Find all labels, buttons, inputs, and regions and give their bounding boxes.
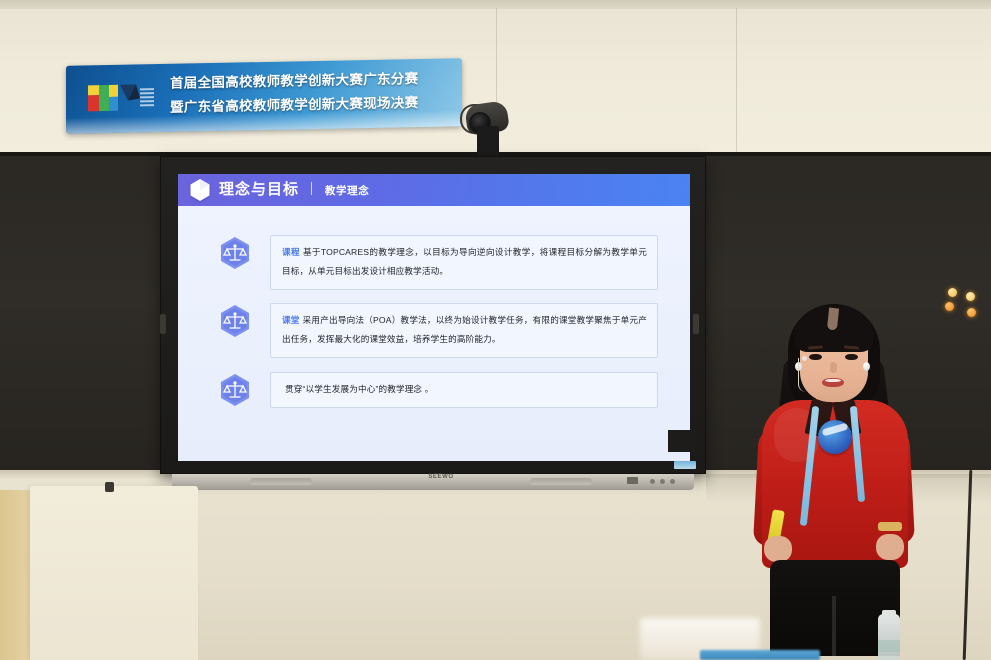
hexagon-icon [189, 178, 211, 202]
slide-header: 理念与目标 教学理念 [178, 174, 690, 206]
bullet-body: 采用产出导向法（POA）教学法，以终为始设计教学任务，有限的课堂教学聚焦于单元产… [282, 315, 647, 344]
bullet-keyword: 课堂 [282, 315, 300, 325]
classroom-scene: 首届全国高校教师教学创新大赛广东分赛 暨广东省高校教师教学创新大赛现场决赛 理念… [0, 0, 991, 660]
whiteboard-panel [30, 486, 198, 660]
slide-title-group: 理念与目标 教学理念 [219, 181, 369, 199]
balance-scales-icon [218, 235, 252, 271]
balance-scales-icon [218, 303, 252, 339]
bullet-text: 课堂采用产出导向法（POA）教学法，以终为始设计教学任务，有限的课堂教学聚焦于单… [282, 311, 647, 349]
wristwatch [878, 522, 902, 531]
hand-right [876, 534, 904, 560]
list-item: 课堂采用产出导向法（POA）教学法，以终为始设计教学任务，有限的课堂教学聚焦于单… [218, 303, 658, 358]
speaker-grill [530, 478, 592, 485]
led-indicator [945, 302, 954, 311]
screen-corner-marker [668, 430, 695, 452]
banner-line-2: 暨广东省高校教师教学创新大赛现场决赛 [170, 90, 456, 119]
competition-logo [82, 78, 158, 117]
bullet-body: 贯穿“以学生发展为中心”的教学理念 。 [285, 384, 433, 394]
bullet-box: 课程基于TOPCARES的教学理念，以目标为导向逆向设计教学，将课程目标分解为教… [270, 235, 658, 290]
speaker-grill [250, 478, 312, 485]
camera-mount [477, 126, 499, 156]
bullet-body: 基于TOPCARES的教学理念，以目标为导向逆向设计教学，将课程目标分解为教学单… [282, 247, 647, 276]
page-title: 理念与目标 [219, 181, 299, 198]
balance-scales-icon [218, 372, 252, 408]
eye-left [809, 354, 822, 360]
power-button[interactable] [650, 479, 655, 484]
whiteboard-mount [105, 482, 114, 492]
bezel-handle-left[interactable] [160, 314, 166, 334]
led-indicator [966, 292, 975, 301]
bottle-label [878, 640, 900, 652]
title-divider [311, 182, 312, 195]
bullet-text: 课程基于TOPCARES的教学理念，以目标为导向逆向设计教学，将课程目标分解为教… [282, 243, 647, 281]
leg-separation [832, 596, 836, 656]
slide-subtitle: 教学理念 [325, 185, 369, 197]
display-badge [674, 461, 696, 469]
earring-right [863, 362, 870, 371]
list-item: 贯穿“以学生发展为中心”的教学理念 。 [218, 372, 658, 408]
slide-body: 课程基于TOPCARES的教学理念，以目标为导向逆向设计教学，将课程目标分解为教… [178, 206, 690, 461]
wood-wall-panel [0, 490, 32, 660]
laptop-lid[interactable] [700, 650, 820, 660]
list-item: 课程基于TOPCARES的教学理念，以目标为导向逆向设计教学，将课程目标分解为教… [218, 235, 658, 290]
bottle-cap [882, 610, 896, 618]
bullet-box: 课堂采用产出导向法（POA）教学法，以终为始设计教学任务，有限的课堂教学聚焦于单… [270, 303, 658, 358]
competition-banner: 首届全国高校教师教学创新大赛广东分赛 暨广东省高校教师教学创新大赛现场决赛 [66, 58, 462, 134]
mic-wire [798, 358, 806, 392]
usb-port[interactable] [627, 477, 638, 484]
eye-right [845, 354, 858, 360]
bullet-box: 贯穿“以学生发展为中心”的教学理念 。 [270, 372, 658, 408]
volume-up-button[interactable] [670, 479, 675, 484]
led-indicator [967, 308, 976, 317]
volume-down-button[interactable] [660, 479, 665, 484]
bezel-handle-right[interactable] [693, 314, 699, 334]
banner-text-block: 首届全国高校教师教学创新大赛广东分赛 暨广东省高校教师教学创新大赛现场决赛 [170, 66, 456, 119]
water-bottle[interactable] [878, 614, 900, 660]
bullet-keyword: 课程 [282, 247, 300, 257]
bullet-text: 贯穿“以学生发展为中心”的教学理念 。 [282, 380, 647, 399]
wall-seam [736, 8, 737, 160]
hand-left [764, 536, 792, 562]
nose [830, 362, 837, 373]
display-brand-label: SEEWO [418, 474, 464, 480]
led-indicator [948, 288, 957, 297]
teeth [825, 379, 841, 382]
presenter [742, 296, 922, 660]
display-screen[interactable]: 理念与目标 教学理念 [178, 174, 690, 461]
